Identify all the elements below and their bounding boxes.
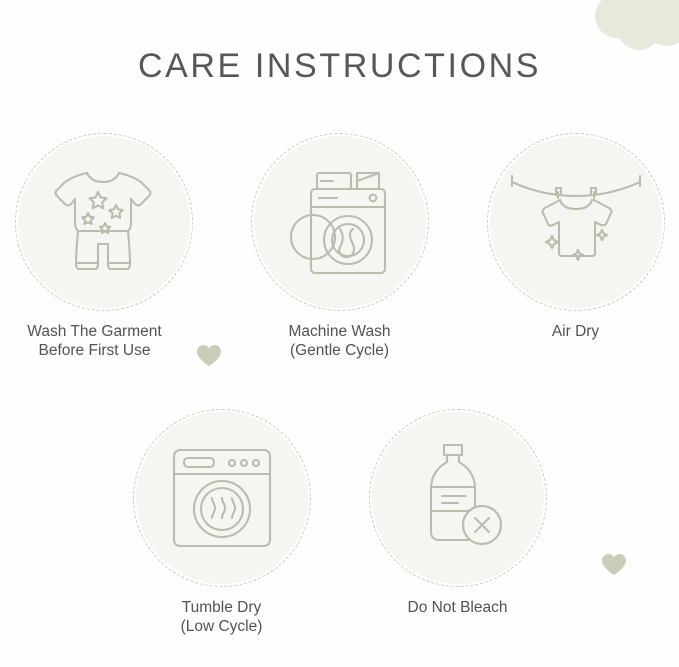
- page-title: CARE INSTRUCTIONS: [0, 47, 679, 86]
- dashed-ring: [251, 133, 429, 311]
- care-card-caption: Machine Wash (Gentle Cycle): [289, 322, 391, 361]
- care-card-machine-wash: Machine Wash (Gentle Cycle): [254, 136, 426, 361]
- icon-circle: [490, 136, 662, 308]
- care-card-tumble-dry: Tumble Dry (Low Cycle): [136, 412, 308, 637]
- care-card-air-dry: Air Dry: [490, 136, 662, 361]
- care-card-caption: Tumble Dry (Low Cycle): [181, 598, 263, 637]
- icon-circle: [372, 412, 544, 584]
- dashed-ring: [369, 409, 547, 587]
- icon-circle: [136, 412, 308, 584]
- icon-circle: [18, 136, 190, 308]
- icon-circle: [254, 136, 426, 308]
- care-card-caption: Do Not Bleach: [408, 598, 508, 617]
- care-row-1: Wash The Garment Before First Use: [0, 136, 679, 361]
- dashed-ring: [487, 133, 665, 311]
- dashed-ring: [133, 409, 311, 587]
- care-card-wash-before-first-use: Wash The Garment Before First Use: [18, 136, 190, 361]
- care-card-caption: Air Dry: [552, 322, 599, 341]
- care-instructions-page: CARE INSTRUCTIONS: [0, 0, 679, 667]
- care-card-caption: Wash The Garment Before First Use: [27, 322, 161, 361]
- dashed-ring: [15, 133, 193, 311]
- care-row-2: Tumble Dry (Low Cycle): [0, 412, 679, 637]
- care-card-do-not-bleach: Do Not Bleach: [372, 412, 544, 637]
